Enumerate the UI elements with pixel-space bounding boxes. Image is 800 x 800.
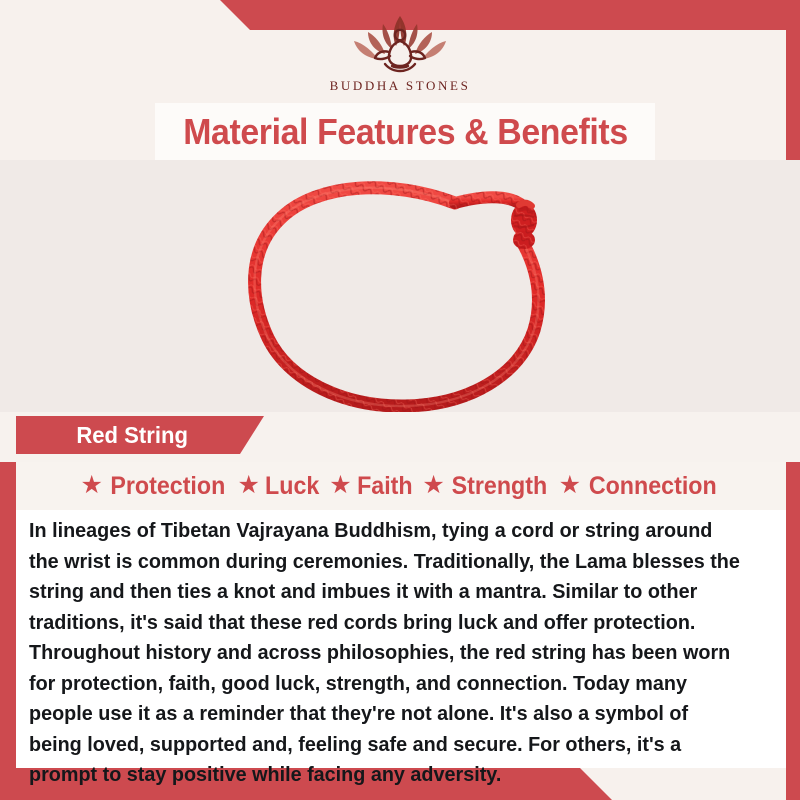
material-label-text: Red String — [76, 422, 188, 449]
benefit-item-luck: ★ Luck — [236, 472, 324, 501]
benefit-item-connection: ★ Connection — [557, 472, 724, 501]
brand-wordmark: BUDDHA STONES — [330, 78, 471, 94]
benefit-label: Connection — [589, 472, 717, 501]
description-paragraph: In lineages of Tibetan Vajrayana Buddhis… — [29, 516, 746, 791]
star-icon: ★ — [422, 473, 444, 498]
material-label-ribbon: Red String — [16, 416, 264, 454]
brand-header: BUDDHA STONES — [0, 0, 800, 103]
description-block: In lineages of Tibetan Vajrayana Buddhis… — [16, 510, 786, 768]
title-banner: Material Features & Benefits — [155, 103, 655, 160]
infographic-poster: BUDDHA STONES Material Features & Benefi… — [0, 0, 800, 800]
lotus-meditation-icon — [335, 8, 465, 76]
benefit-label: Protection — [110, 472, 225, 501]
product-photo — [0, 160, 800, 412]
benefit-item-strength: ★ Strength — [420, 472, 552, 501]
benefit-label: Strength — [451, 472, 547, 501]
benefit-label: Luck — [265, 472, 319, 501]
star-icon: ★ — [80, 473, 102, 498]
brand-logo: BUDDHA STONES — [330, 8, 471, 94]
benefit-item-protection: ★ Protection — [78, 472, 231, 501]
star-icon: ★ — [238, 473, 260, 498]
benefit-item-faith: ★ Faith — [327, 472, 416, 501]
benefit-label: Faith — [357, 472, 413, 501]
page-title: Material Features & Benefits — [183, 111, 628, 153]
benefits-row: ★ Protection ★ Luck ★ Faith ★ Strength ★… — [16, 462, 786, 510]
star-icon: ★ — [329, 473, 351, 498]
star-icon: ★ — [559, 473, 581, 498]
